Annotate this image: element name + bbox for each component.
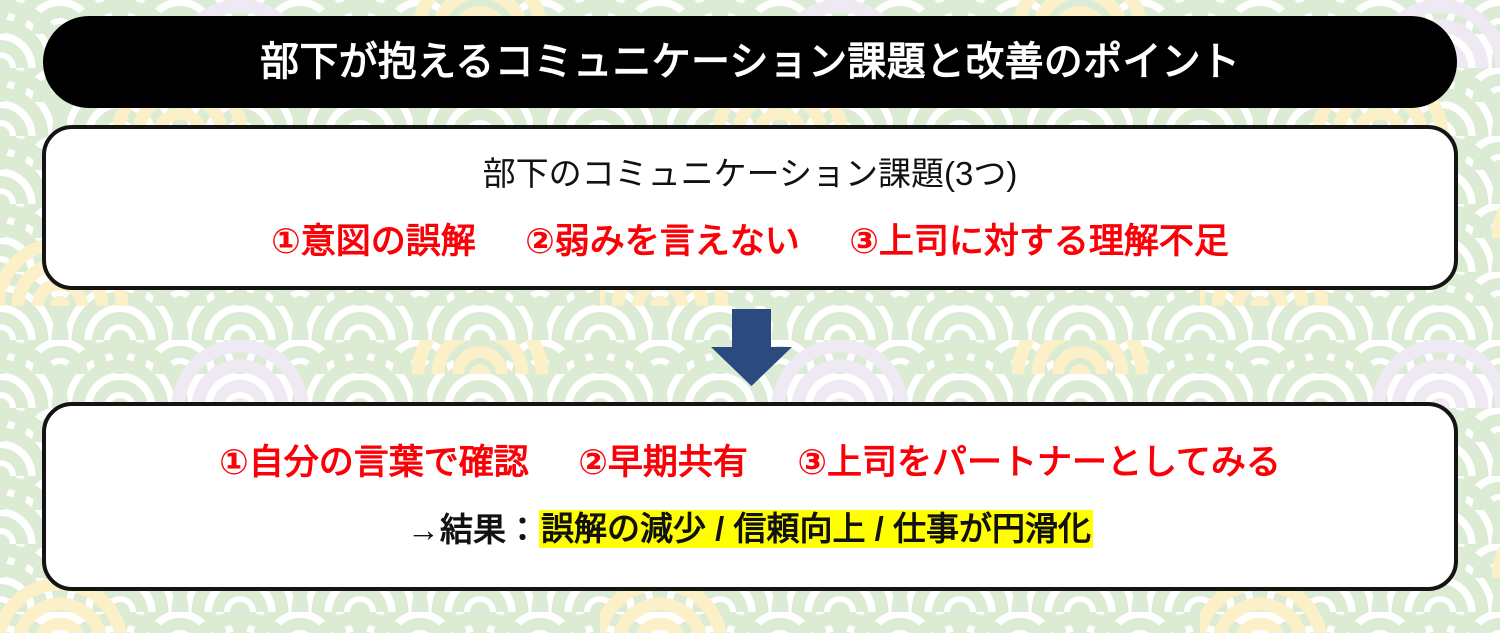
issues-item-3: ③上司に対する理解不足 (849, 222, 1229, 261)
actions-item-2: ②早期共有 (578, 443, 748, 482)
actions-panel: ①自分の言葉で確認 ②早期共有 ③上司をパートナーとしてみる →結果： 誤解の減… (42, 402, 1458, 591)
issues-item-list: ①意図の誤解 ②弱みを言えない ③上司に対する理解不足 (271, 224, 1229, 259)
actions-item-1: ①自分の言葉で確認 (219, 443, 529, 482)
actions-item-3: ③上司をパートナーとしてみる (797, 443, 1281, 482)
issues-item-2: ②弱みを言えない (525, 222, 800, 261)
down-arrow-icon (711, 309, 792, 386)
page-title: 部下が抱えるコミュニケーション課題と改善のポイント (260, 42, 1240, 82)
slide-canvas: 部下が抱えるコミュニケーション課題と改善のポイント 部下のコミュニケーション課題… (0, 0, 1500, 633)
actions-item-list: ①自分の言葉で確認 ②早期共有 ③上司をパートナーとしてみる (219, 445, 1281, 480)
result-prefix-label: →結果： (407, 513, 539, 546)
result-line: →結果： 誤解の減少 / 信頼向上 / 仕事が円滑化 (407, 510, 1093, 548)
issues-heading: 部下のコミュニケーション課題(3つ) (483, 157, 1018, 190)
slide-title-banner: 部下が抱えるコミュニケーション課題と改善のポイント (43, 16, 1457, 108)
result-highlight-text: 誤解の減少 / 信頼向上 / 仕事が円滑化 (539, 510, 1093, 548)
issues-item-1: ①意図の誤解 (271, 222, 476, 261)
issues-panel: 部下のコミュニケーション課題(3つ) ①意図の誤解 ②弱みを言えない ③上司に対… (42, 125, 1458, 290)
